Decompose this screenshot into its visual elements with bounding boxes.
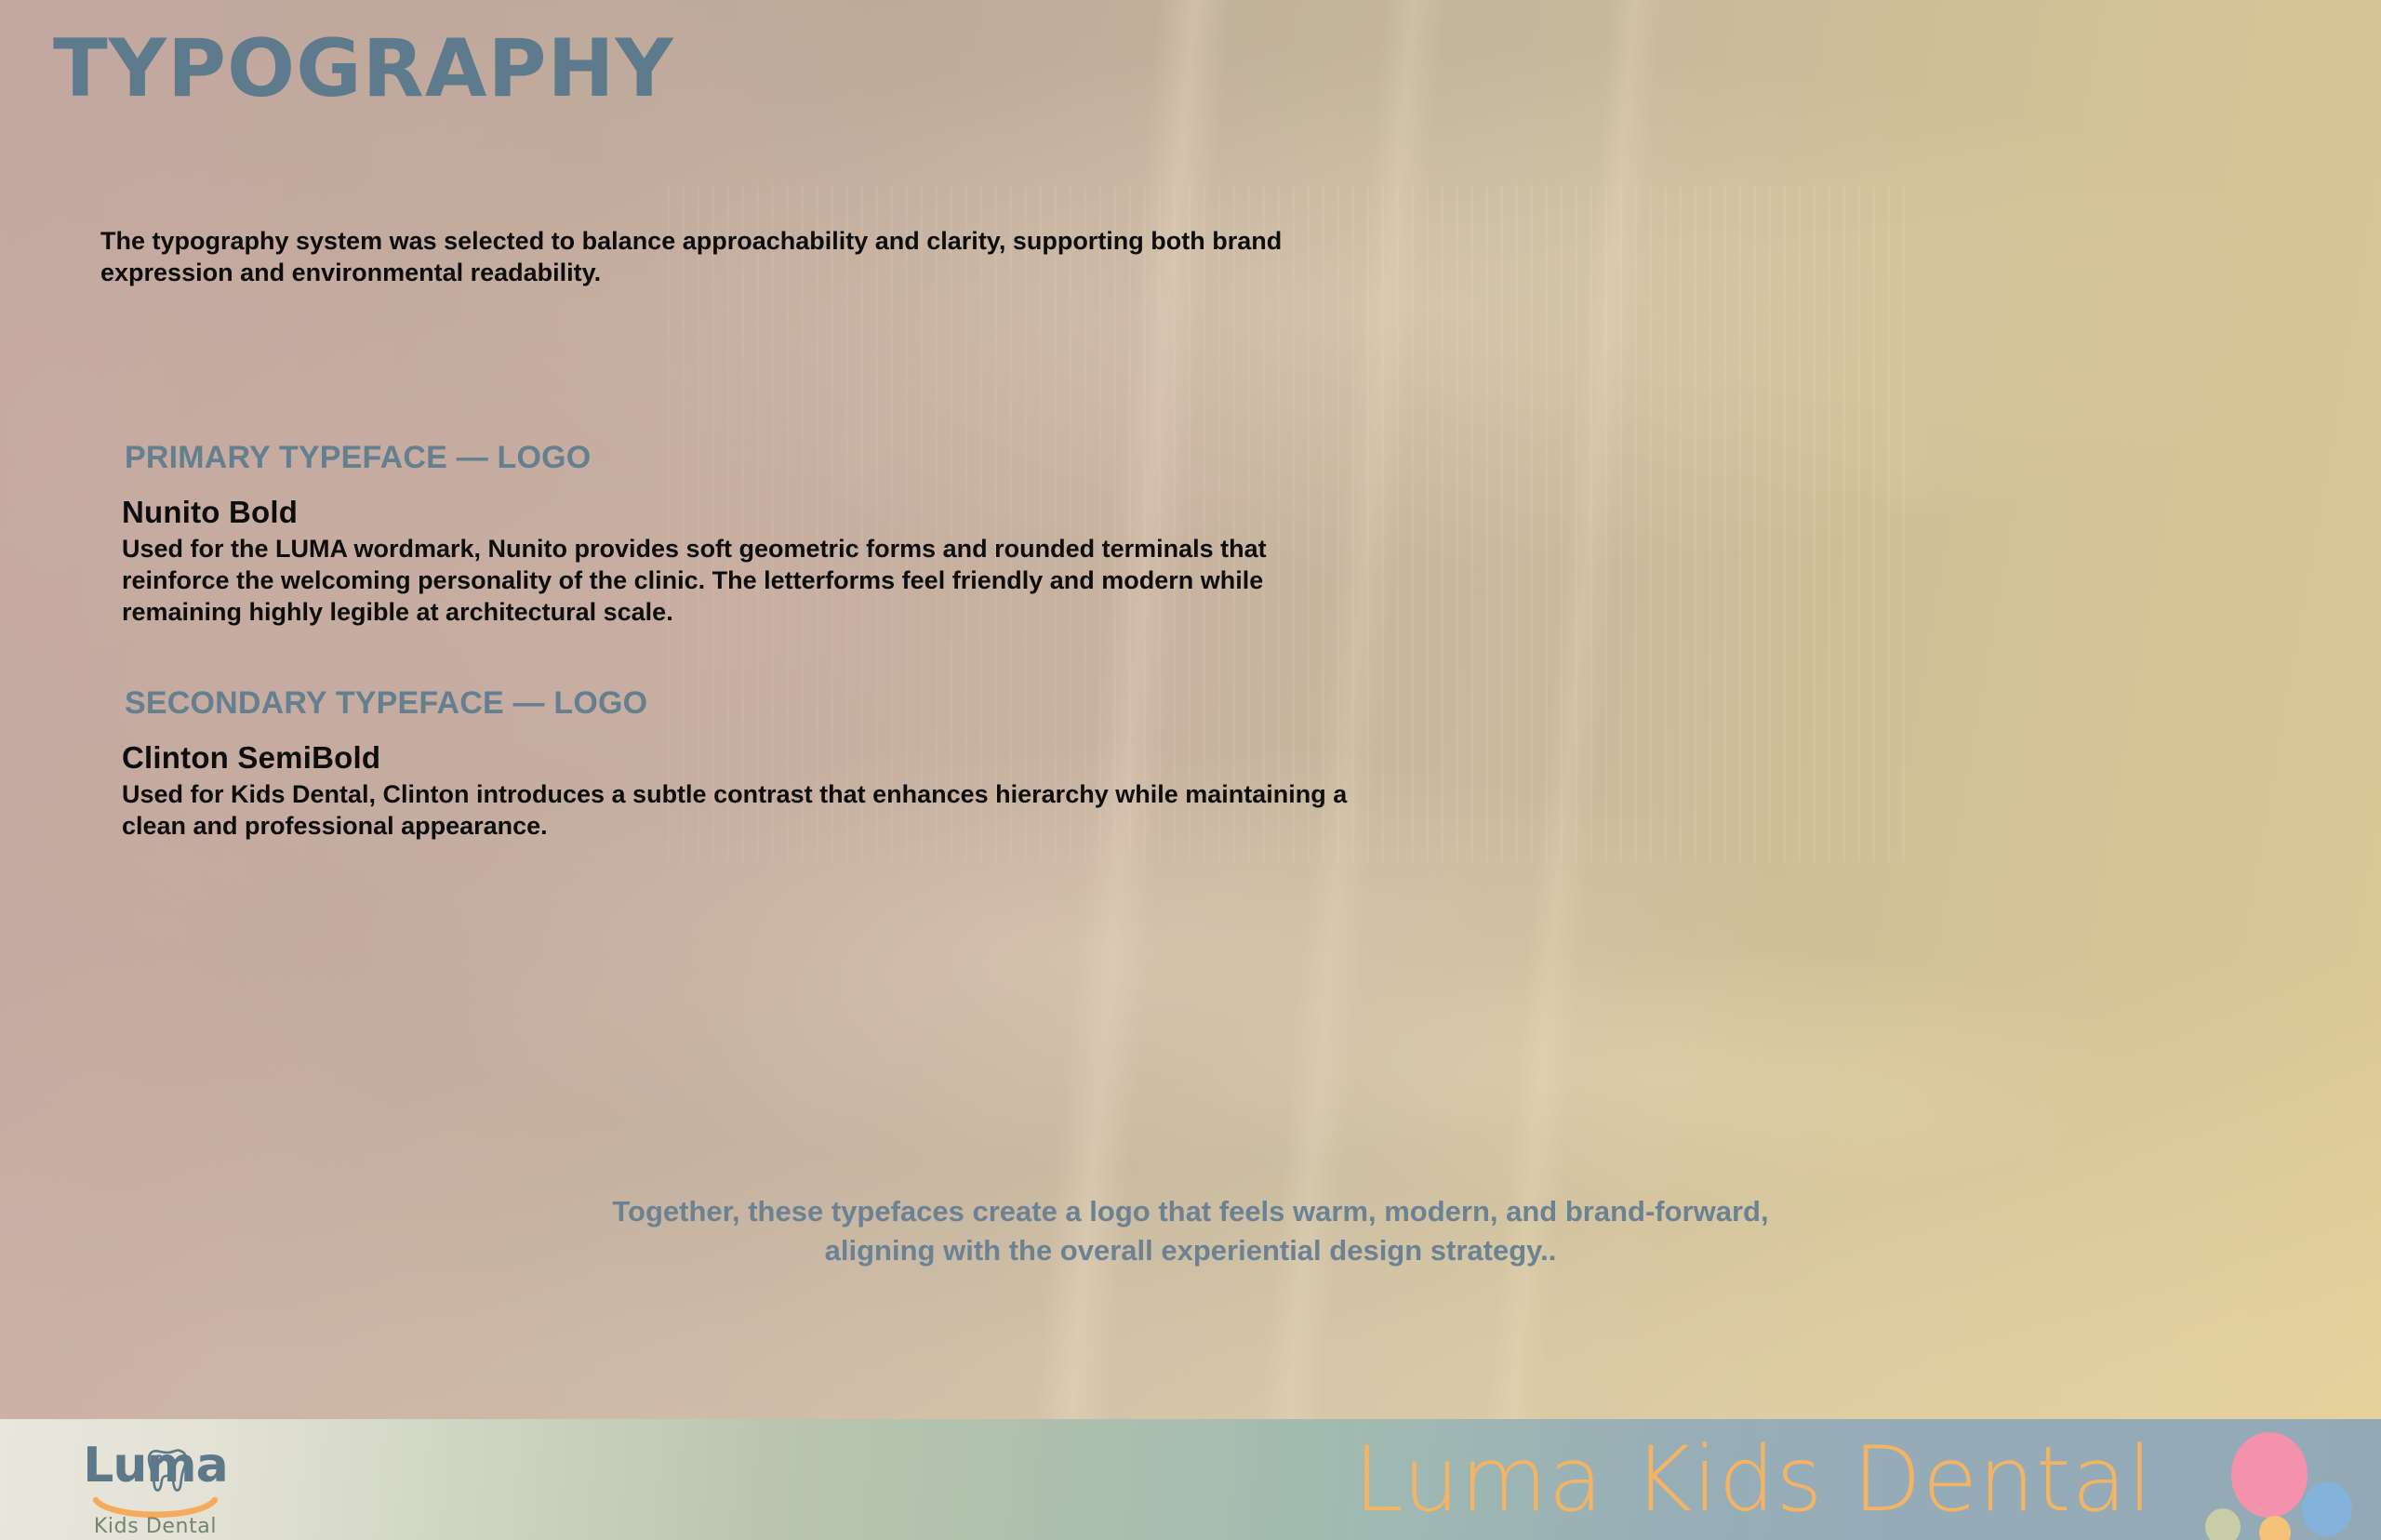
section-kicker-primary: PRIMARY TYPEFACE — LOGO bbox=[125, 440, 1350, 476]
typeface-name-primary: Nunito Bold bbox=[122, 495, 1350, 530]
section-primary-typeface: PRIMARY TYPEFACE — LOGO Nunito Bold Used… bbox=[122, 440, 1350, 628]
logo-wordmark: Luma bbox=[48, 1438, 262, 1494]
slide: TYPOGRAPHY The typography system was sel… bbox=[0, 0, 2381, 1540]
closing-statement: Together, these typefaces create a logo … bbox=[0, 1192, 2381, 1270]
slide-content: TYPOGRAPHY The typography system was sel… bbox=[0, 0, 2381, 1540]
intro-paragraph: The typography system was selected to ba… bbox=[100, 225, 1356, 288]
footer-brand-wordmark: Luma Kids Dental bbox=[1353, 1427, 2153, 1532]
decorative-dot-blue bbox=[2302, 1482, 2352, 1536]
page-title: TYPOGRAPHY bbox=[53, 22, 674, 115]
decorative-dot-amber bbox=[2259, 1516, 2291, 1540]
closing-line-1: Together, these typefaces create a logo … bbox=[0, 1192, 2381, 1231]
typeface-name-secondary: Clinton SemiBold bbox=[122, 740, 1350, 776]
typeface-description-secondary: Used for Kids Dental, Clinton introduces… bbox=[122, 779, 1350, 843]
typeface-description-primary: Used for the LUMA wordmark, Nunito provi… bbox=[122, 534, 1350, 628]
slide-footer: Luma Kids Dental Luma Kids Dental bbox=[0, 1419, 2381, 1540]
decorative-dot-sage bbox=[2205, 1508, 2241, 1540]
section-kicker-secondary: SECONDARY TYPEFACE — LOGO bbox=[125, 685, 1350, 722]
logo-subtitle: Kids Dental bbox=[48, 1515, 262, 1538]
closing-line-2: aligning with the overall experiential d… bbox=[0, 1231, 2381, 1270]
decorative-dot-pink bbox=[2231, 1432, 2308, 1518]
footer-decorative-dots bbox=[2162, 1419, 2362, 1540]
section-secondary-typeface: SECONDARY TYPEFACE — LOGO Clinton SemiBo… bbox=[122, 685, 1350, 843]
luma-logo-lockup: Luma Kids Dental bbox=[48, 1427, 262, 1536]
